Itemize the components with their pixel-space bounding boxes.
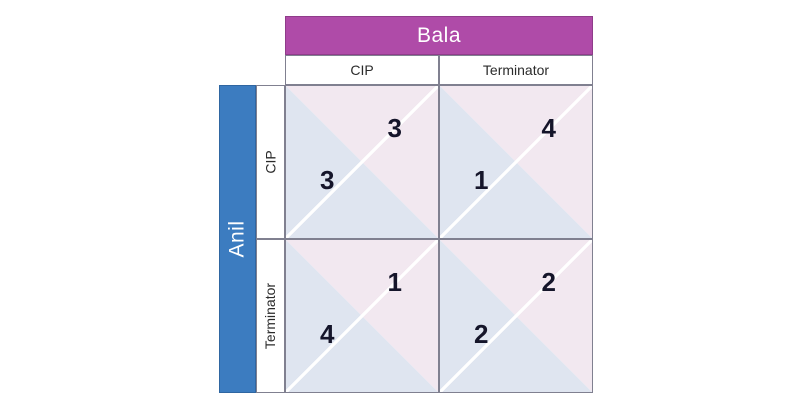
column-header-label: CIP <box>350 62 373 78</box>
column-player-label: Bala <box>417 24 461 48</box>
row-player-payoff: 1 <box>474 167 488 193</box>
row-header-cip: CIP <box>256 85 285 239</box>
payoff-cell: 1 4 <box>285 239 439 393</box>
column-header-label: Terminator <box>483 62 549 78</box>
column-player-payoff: 3 <box>388 115 402 141</box>
payoff-cell: 4 1 <box>439 85 593 239</box>
column-header-cip: CIP <box>285 55 439 85</box>
payoff-cell: 3 3 <box>285 85 439 239</box>
row-player-banner: Anil <box>219 85 256 393</box>
column-player-banner: Bala <box>285 16 593 55</box>
cell-diagonal-divider <box>440 240 592 392</box>
row-player-payoff: 2 <box>474 321 488 347</box>
row-player-payoff: 4 <box>320 321 334 347</box>
row-header-terminator: Terminator <box>256 239 285 393</box>
row-header-label: Terminator <box>263 283 279 349</box>
row-player-payoff: 3 <box>320 167 334 193</box>
cell-diagonal-divider <box>286 240 438 392</box>
cell-diagonal-divider <box>440 86 592 238</box>
row-header-label: CIP <box>263 150 279 173</box>
row-player-label: Anil <box>226 220 250 257</box>
column-header-terminator: Terminator <box>439 55 593 85</box>
payoff-cell: 2 2 <box>439 239 593 393</box>
column-player-payoff: 2 <box>542 269 556 295</box>
column-player-payoff: 4 <box>542 115 556 141</box>
column-player-payoff: 1 <box>388 269 402 295</box>
payoff-matrix: Bala CIP Terminator Anil CIP Terminator … <box>219 16 593 393</box>
cell-diagonal-divider <box>286 86 438 238</box>
